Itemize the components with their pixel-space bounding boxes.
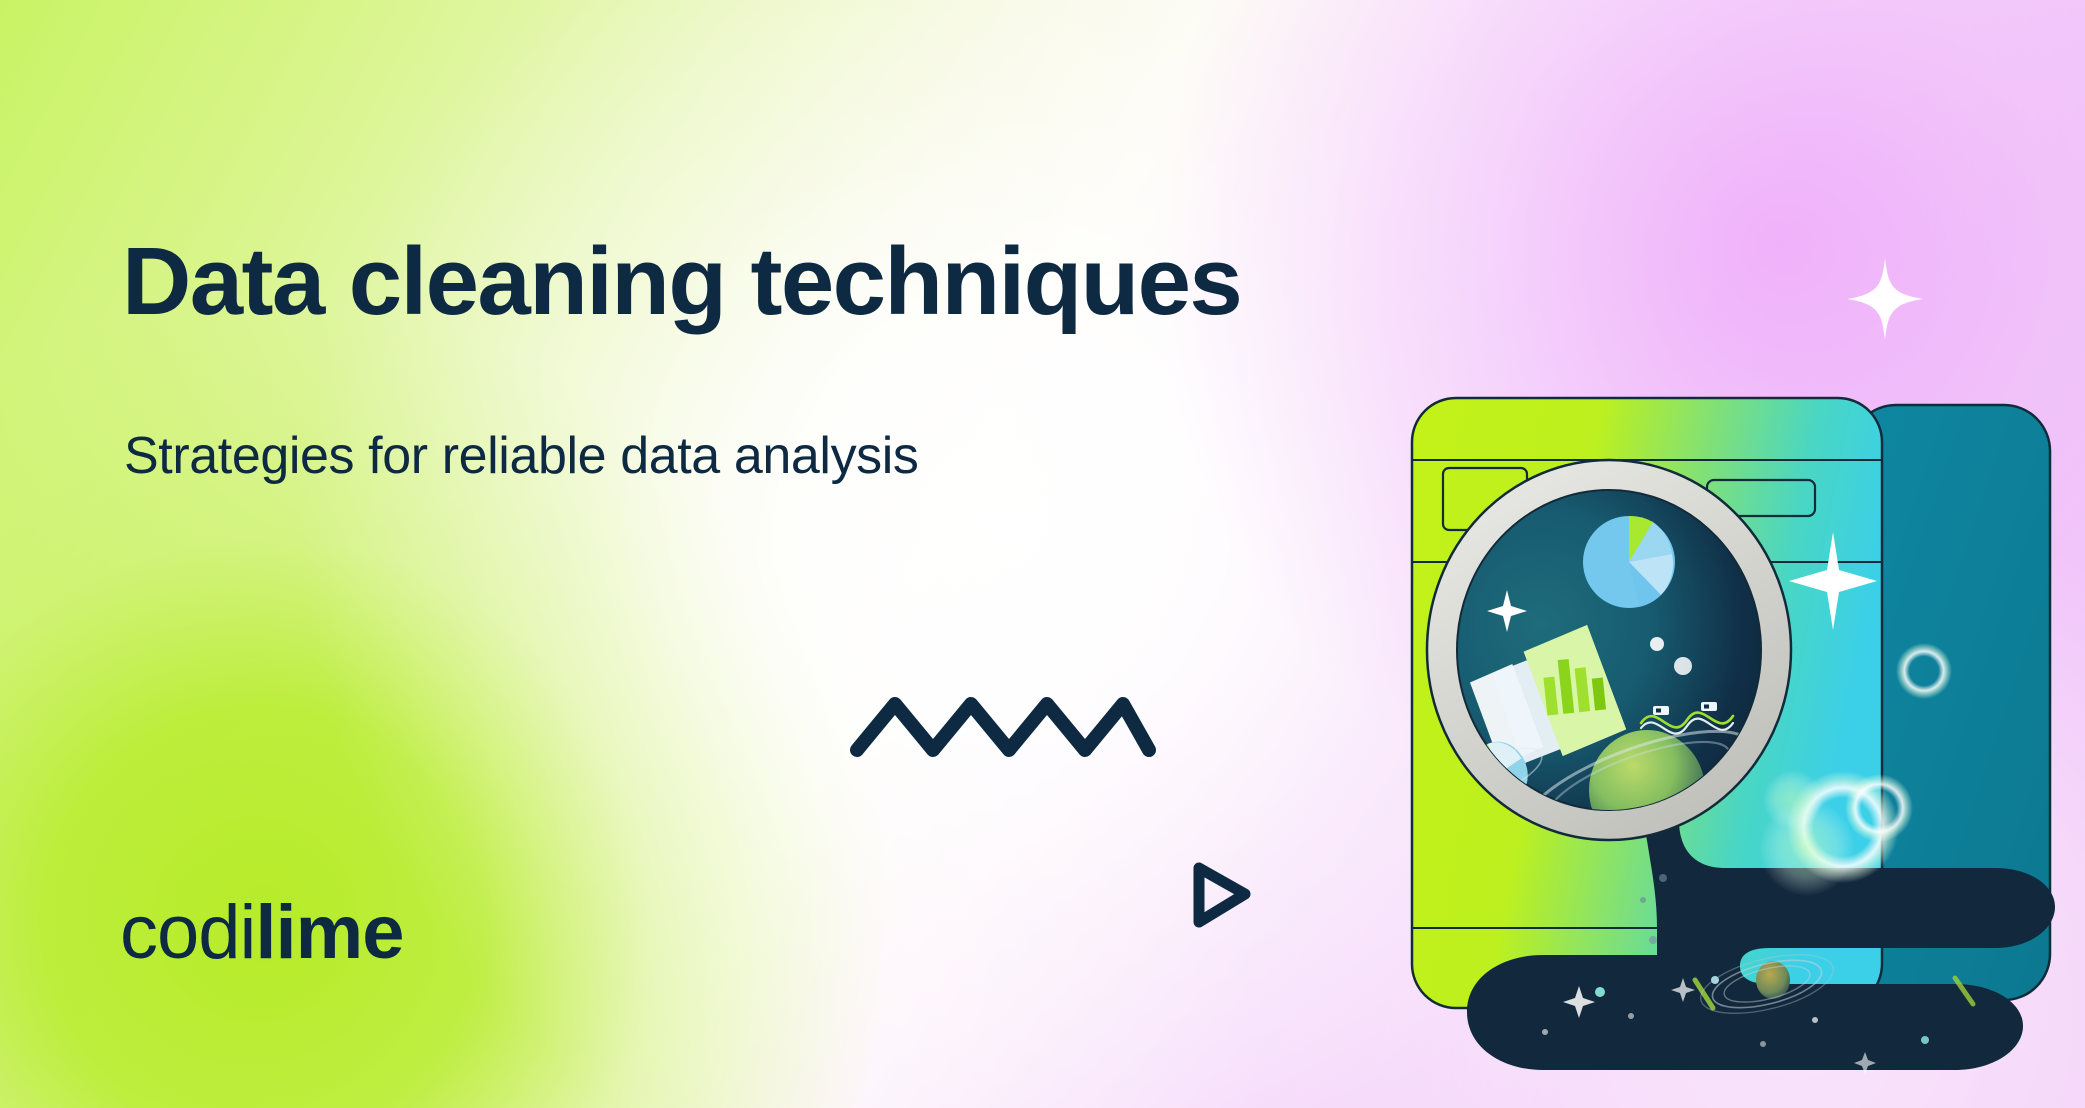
- page-title: Data cleaning techniques: [122, 232, 1241, 332]
- codilime-logo[interactable]: codilime: [120, 895, 404, 971]
- zigzag-icon: [848, 688, 1158, 771]
- play-triangle-icon: [1185, 858, 1257, 937]
- sparkle-icon: [1847, 258, 1923, 345]
- logo-text-codi: codi: [120, 890, 255, 975]
- illustration-washing-machine: [1395, 380, 2055, 1080]
- pie-chart-icon: [1583, 516, 1675, 608]
- page-subtitle: Strategies for reliable data analysis: [124, 427, 919, 487]
- logo-text-lime: lime: [255, 890, 403, 975]
- banner-canvas: Data cleaning techniques Strategies for …: [0, 0, 2085, 1108]
